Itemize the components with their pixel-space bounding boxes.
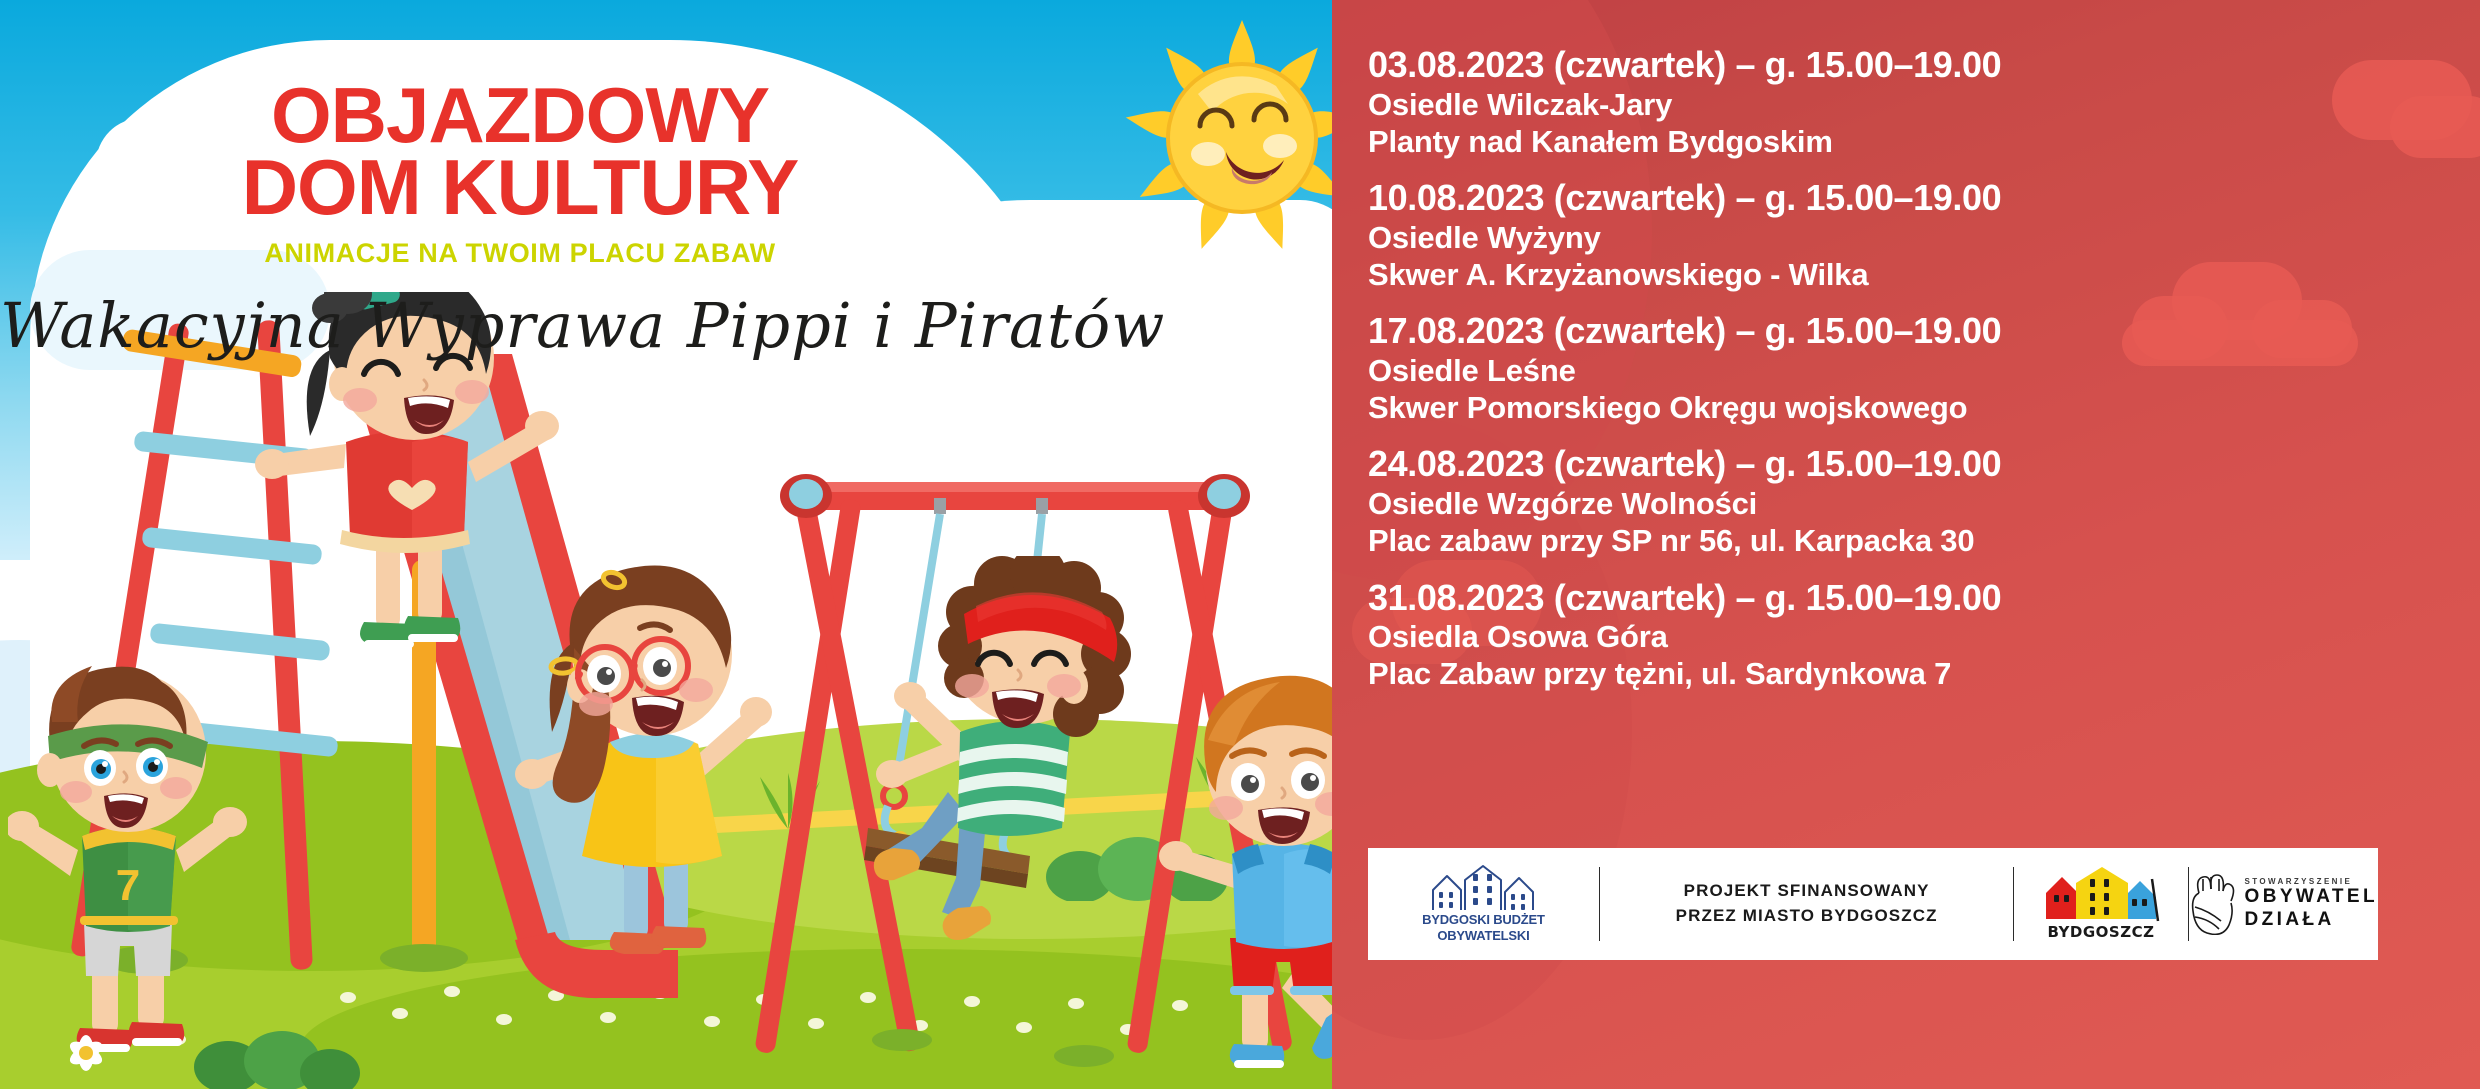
bydgoszcz-wordmark: BYDGOSZCZ [2047, 923, 2154, 941]
event-item: 31.08.2023 (czwartek) – g. 15.00–19.00 O… [1368, 577, 2448, 693]
bbo-houses-icon [1427, 864, 1539, 912]
logo-financed-by: PROJEKT SFINANSOWANY PRZEZ MIASTO BYDGOS… [1600, 848, 2014, 960]
event-location: Skwer A. Krzyżanowskiego - Wilka [1368, 256, 2448, 293]
bbo-label-line2: OBYWATELSKI [1437, 928, 1529, 944]
sun-icon [1122, 18, 1332, 258]
page-title-line2: DOM KULTURY [0, 152, 1040, 224]
illustration-panel: OBJAZDOWY DOM KULTURY ANIMACJE NA TWOIM … [0, 0, 1332, 1089]
event-date: 31.08.2023 (czwartek) – g. 15.00–19.00 [1368, 577, 2448, 619]
event-location: Plac zabaw przy SP nr 56, ul. Karpacka 3… [1368, 522, 2448, 559]
event-location: Skwer Pomorskiego Okręgu wojskowego [1368, 389, 2448, 426]
poster-root: OBJAZDOWY DOM KULTURY ANIMACJE NA TWOIM … [0, 0, 2480, 1089]
events-list: 03.08.2023 (czwartek) – g. 15.00–19.00 O… [1368, 44, 2448, 693]
hand-icon [2189, 873, 2235, 935]
flower-icon [46, 1023, 126, 1083]
bydgoszcz-houses-icon [2042, 867, 2160, 923]
event-item: 03.08.2023 (czwartek) – g. 15.00–19.00 O… [1368, 44, 2448, 160]
title-block: OBJAZDOWY DOM KULTURY ANIMACJE NA TWOIM … [0, 80, 1040, 362]
event-district: Osiedle Wilczak-Jary [1368, 86, 2448, 123]
event-district: Osiedle Wzgórze Wolności [1368, 485, 2448, 522]
event-location: Planty nad Kanałem Bydgoskim [1368, 123, 2448, 160]
bush-icon-left [180, 1005, 380, 1089]
event-date: 24.08.2023 (czwartek) – g. 15.00–19.00 [1368, 443, 2448, 485]
assoc-label-small: STOWARZYSZENIE [2245, 877, 2378, 886]
financed-line2: PRZEZ MIASTO BYDGOSZCZ [1676, 904, 1938, 929]
logo-bbo: BYDGOSKI BUDŻET OBYWATELSKI [1368, 848, 1599, 960]
event-date: 03.08.2023 (czwartek) – g. 15.00–19.00 [1368, 44, 2448, 86]
page-title-line1: OBJAZDOWY [0, 80, 1040, 152]
event-location: Plac Zabaw przy tężni, ul. Sardynkowa 7 [1368, 655, 2448, 692]
logo-city-bydgoszcz: BYDGOSZCZ [2014, 848, 2187, 960]
assoc-label-line2: DZIAŁA [2245, 909, 2378, 931]
event-district: Osiedla Osowa Góra [1368, 618, 2448, 655]
logo-obywatel-dziala: STOWARZYSZENIE OBYWATEL DZIAŁA [2189, 848, 2378, 960]
bbo-label-line1: BYDGOSKI BUDŻET [1422, 912, 1545, 928]
assoc-label-line1: OBYWATEL [2245, 886, 2378, 908]
event-item: 10.08.2023 (czwartek) – g. 15.00–19.00 O… [1368, 177, 2448, 293]
event-item: 24.08.2023 (czwartek) – g. 15.00–19.00 O… [1368, 443, 2448, 559]
financed-line1: PROJEKT SFINANSOWANY [1676, 879, 1938, 904]
child-boy-blue-icon [1138, 670, 1332, 1089]
events-panel: 03.08.2023 (czwartek) – g. 15.00–19.00 O… [1332, 0, 2480, 1089]
event-district: Osiedle Leśne [1368, 352, 2448, 389]
event-item: 17.08.2023 (czwartek) – g. 15.00–19.00 O… [1368, 310, 2448, 426]
page-subtitle: ANIMACJE NA TWOIM PLACU ZABAW [0, 238, 1040, 269]
jersey-number: 7 [116, 861, 140, 910]
event-district: Osiedle Wyżyny [1368, 219, 2448, 256]
sponsor-logo-bar: BYDGOSKI BUDŻET OBYWATELSKI PROJEKT SFIN… [1368, 848, 2378, 960]
event-date: 10.08.2023 (czwartek) – g. 15.00–19.00 [1368, 177, 2448, 219]
event-date: 17.08.2023 (czwartek) – g. 15.00–19.00 [1368, 310, 2448, 352]
script-title: Wakacyjna Wyprawa Pippi i Piratów [0, 289, 1040, 362]
